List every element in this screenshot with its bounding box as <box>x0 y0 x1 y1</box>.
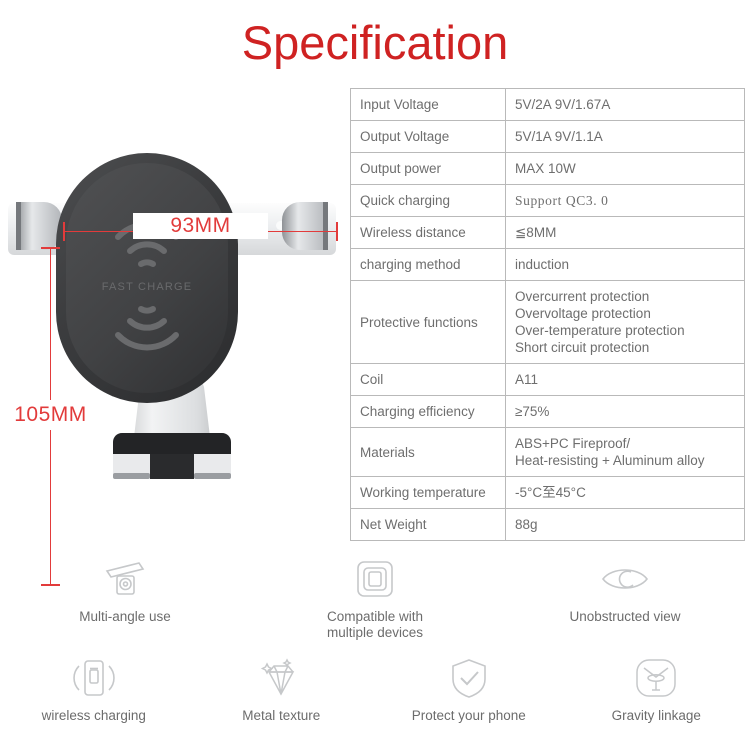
tilt-mount-icon <box>103 556 147 602</box>
spec-key: Working temperature <box>351 477 506 509</box>
table-row: Quick chargingSupport QC3. 0 <box>351 185 745 217</box>
spec-value: 5V/2A 9V/1.67A <box>506 89 745 121</box>
spec-key: Charging efficiency <box>351 396 506 428</box>
width-dimension-cap-left <box>63 222 65 241</box>
width-dimension-label: 93MM <box>133 213 268 239</box>
table-row: Working temperature-5°C至45°C <box>351 477 745 509</box>
feature-item: Multi-angle use <box>0 556 250 641</box>
table-row: Output powerMAX 10W <box>351 153 745 185</box>
spec-value: induction <box>506 249 745 281</box>
feature-item: Unobstructed view <box>500 556 750 641</box>
diamond-icon <box>259 655 303 701</box>
feature-label: Metal texture <box>242 708 320 724</box>
multi-device-icon <box>355 556 395 602</box>
feature-item: Gravity linkage <box>563 655 750 724</box>
shield-check-icon <box>449 655 489 701</box>
spec-key: Output Voltage <box>351 121 506 153</box>
feature-item: Protect your phone <box>375 655 563 724</box>
spec-value: -5°C至45°C <box>506 477 745 509</box>
feature-item: Metal texture <box>188 655 376 724</box>
spec-value: A11 <box>506 364 745 396</box>
wireless-charging-icon <box>68 655 120 701</box>
table-row: Input Voltage5V/2A 9V/1.67A <box>351 89 745 121</box>
width-dimension-cap-right <box>336 222 338 241</box>
gravity-pendant-icon <box>634 655 678 701</box>
spec-key: Net Weight <box>351 509 506 541</box>
spec-key: Coil <box>351 364 506 396</box>
feature-label: wireless charging <box>42 708 146 724</box>
table-row: Protective functionsOvercurrent protecti… <box>351 281 745 364</box>
feature-item: Compatible with multiple devices <box>250 556 500 641</box>
spec-value: MAX 10W <box>506 153 745 185</box>
spec-key: Quick charging <box>351 185 506 217</box>
feature-label: Protect your phone <box>412 708 526 724</box>
spec-key: Wireless distance <box>351 217 506 249</box>
table-row: Net Weight88g <box>351 509 745 541</box>
table-row: charging methodinduction <box>351 249 745 281</box>
product-illustration: FAST CHARGE 93MM 105MM <box>0 95 345 535</box>
feature-label: Unobstructed view <box>569 609 680 625</box>
spec-key: Input Voltage <box>351 89 506 121</box>
table-row: MaterialsABS+PC Fireproof/ Heat-resistin… <box>351 428 745 477</box>
spec-key: charging method <box>351 249 506 281</box>
feature-item: wireless charging <box>0 655 188 724</box>
spec-value: 5V/1A 9V/1.1A <box>506 121 745 153</box>
feature-row-bottom: wireless chargingMetal textureProtect yo… <box>0 655 750 724</box>
spec-value: Support QC3. 0 <box>506 185 745 217</box>
spec-value: Overcurrent protection Overvoltage prote… <box>506 281 745 364</box>
table-row: Wireless distance≦8MM <box>351 217 745 249</box>
page-title: Specification <box>0 14 750 72</box>
spec-key: Protective functions <box>351 281 506 364</box>
specification-table: Input Voltage5V/2A 9V/1.67AOutput Voltag… <box>350 88 745 541</box>
table-row: CoilA11 <box>351 364 745 396</box>
spec-key: Output power <box>351 153 506 185</box>
table-row: Output Voltage5V/1A 9V/1.1A <box>351 121 745 153</box>
spec-value: ≦8MM <box>506 217 745 249</box>
eye-icon <box>601 556 649 602</box>
table-row: Charging efficiency≥75% <box>351 396 745 428</box>
spec-value: 88g <box>506 509 745 541</box>
feature-row-top: Multi-angle useCompatible with multiple … <box>0 556 750 641</box>
height-dimension-label: 105MM <box>2 400 99 430</box>
feature-label: Multi-angle use <box>79 609 171 625</box>
spec-key: Materials <box>351 428 506 477</box>
fast-charge-badge: FAST CHARGE <box>102 281 193 293</box>
height-dimension-cap-top <box>41 247 60 249</box>
spec-value: ABS+PC Fireproof/ Heat-resisting + Alumi… <box>506 428 745 477</box>
feature-label: Compatible with multiple devices <box>327 609 423 641</box>
specification-page: Specification <box>0 0 750 750</box>
car-mount-product-image: FAST CHARGE <box>0 95 345 535</box>
feature-label: Gravity linkage <box>612 708 701 724</box>
spec-value: ≥75% <box>506 396 745 428</box>
